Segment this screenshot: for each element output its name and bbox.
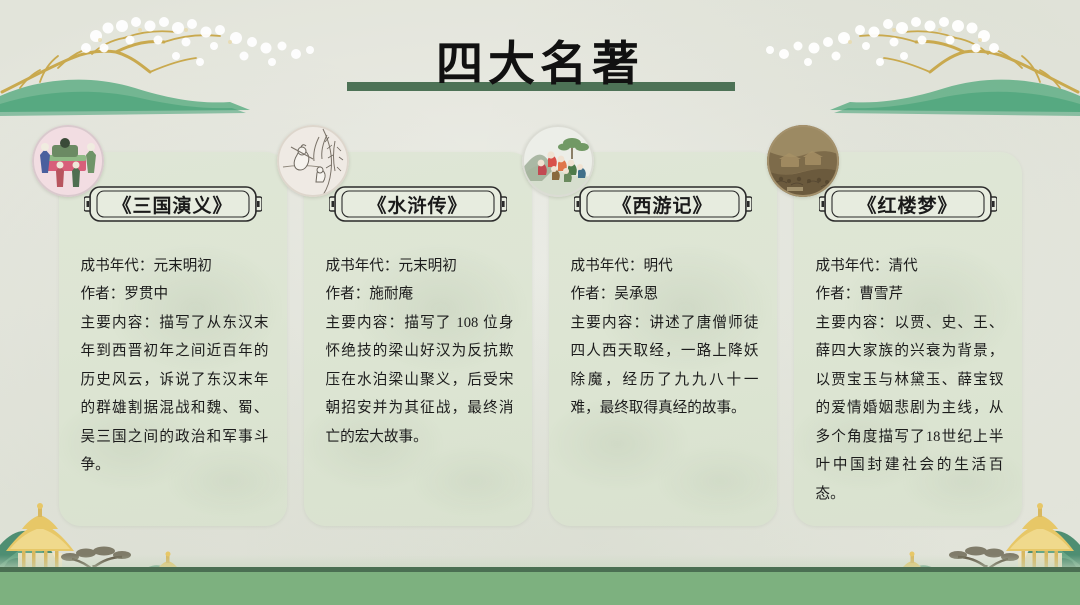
book-card-sanguo[interactable]: 《三国演义》 成书年代：元末明初 作者：罗贯中 主要内容：描写了从东汉末年到西晋… [59, 152, 287, 526]
bottom-green-band [0, 572, 1080, 605]
book-card-shuihu[interactable]: 《水浒传》 成书年代：元末明初 作者：施耐庵 主要内容：描写了 108 位身怀绝… [304, 152, 532, 526]
summary-line: 主要内容：以贾、史、王、薛四大家族的兴衰为背景，以贾宝玉与林黛玉、薛宝钗的爱情婚… [816, 315, 1004, 502]
book-title-xiyou: 《西游记》 [574, 184, 752, 224]
book-details-xiyou: 成书年代：明代 作者：吴承恩 主要内容：讲述了唐僧师徒四人西天取经，一路上降妖除… [571, 252, 759, 423]
plaque-frame-shuihu: 《水浒传》 [329, 184, 507, 224]
sanguo-painting-icon [32, 125, 104, 197]
plaque-frame-honglou: 《红楼梦》 [819, 184, 997, 224]
book-details-sanguo: 成书年代：元末明初 作者：罗贯中 主要内容：描写了从东汉末年到西晋初年之间近百年… [81, 252, 269, 480]
book-card-list: 《三国演义》 成书年代：元末明初 作者：罗贯中 主要内容：描写了从东汉末年到西晋… [0, 152, 1080, 527]
era-line: 成书年代：明代 [571, 252, 759, 280]
page-title-text: 四大名著 [436, 25, 644, 94]
summary-line: 主要内容：讲述了唐僧师徒四人西天取经，一路上降妖除魔，经历了九九八十一难，最终取… [571, 315, 759, 416]
book-details-honglou: 成书年代：清代 作者：曹雪芹 主要内容：以贾、史、王、薛四大家族的兴衰为背景，以… [816, 252, 1004, 508]
author-line: 作者：吴承恩 [571, 280, 759, 308]
era-line: 成书年代：元末明初 [326, 252, 514, 280]
author-line: 作者：罗贯中 [81, 280, 269, 308]
book-title-sanguo: 《三国演义》 [84, 184, 262, 224]
slide-root: 四大名著 [0, 0, 1080, 605]
plaque-frame-xiyou: 《西游记》 [574, 184, 752, 224]
author-line: 作者：施耐庵 [326, 280, 514, 308]
author-line: 作者：曹雪芹 [816, 280, 1004, 308]
page-title: 四大名著 [0, 24, 1080, 94]
xiyou-painting-icon [522, 125, 594, 197]
book-card-xiyou[interactable]: 《西游记》 成书年代：明代 作者：吴承恩 主要内容：讲述了唐僧师徒四人西天取经，… [549, 152, 777, 526]
book-title-honglou: 《红楼梦》 [819, 184, 997, 224]
summary-line: 主要内容：描写了 108 位身怀绝技的梁山好汉为反抗欺压在水泊梁山聚义，后受宋朝… [326, 315, 514, 445]
era-line: 成书年代：清代 [816, 252, 1004, 280]
book-card-honglou[interactable]: 《红楼梦》 成书年代：清代 作者：曹雪芹 主要内容：以贾、史、王、薛四大家族的兴… [794, 152, 1022, 526]
book-title-shuihu: 《水浒传》 [329, 184, 507, 224]
summary-line: 主要内容：描写了从东汉末年到西晋初年之间近百年的历史风云，诉说了东汉末年的群雄割… [81, 315, 269, 473]
era-line: 成书年代：元末明初 [81, 252, 269, 280]
bottom-soft-gradient [0, 555, 1080, 567]
book-details-shuihu: 成书年代：元末明初 作者：施耐庵 主要内容：描写了 108 位身怀绝技的梁山好汉… [326, 252, 514, 451]
plaque-frame-sanguo: 《三国演义》 [84, 184, 262, 224]
shuihu-painting-icon [277, 125, 349, 197]
honglou-painting-icon [767, 125, 839, 197]
